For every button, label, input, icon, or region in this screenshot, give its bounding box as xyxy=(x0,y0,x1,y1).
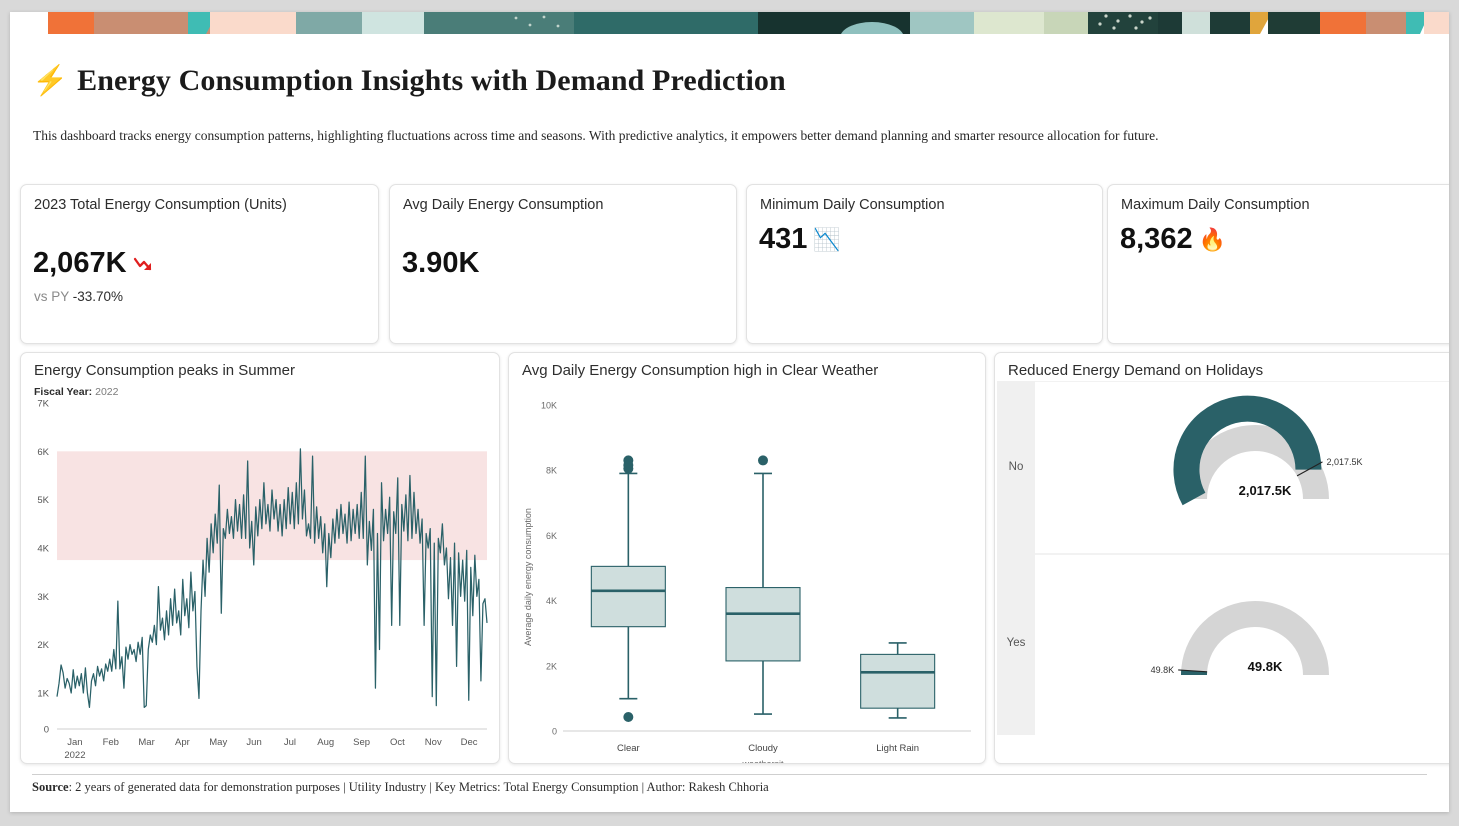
box-plot-group xyxy=(861,643,935,718)
lightning-bolt-icon: ⚡ xyxy=(32,67,68,96)
footer-source: Source: 2 years of generated data for de… xyxy=(32,780,769,795)
decorative-banner xyxy=(10,12,1449,34)
panel-holiday-gauges[interactable]: Reduced Energy Demand on Holidays No2,01… xyxy=(994,352,1449,764)
kpi-subtext: vs PY -33.70% xyxy=(34,289,123,304)
outlier-point xyxy=(623,712,633,722)
y-tick-label: 8K xyxy=(546,466,557,476)
category-label: Light Rain xyxy=(876,743,919,754)
kpi-title: Avg Daily Energy Consumption xyxy=(403,197,603,213)
y-tick-label: 6K xyxy=(37,447,49,458)
box-plot-chart: 02K4K6K8K10KAverage daily energy consump… xyxy=(509,383,985,764)
category-label: Clear xyxy=(617,743,640,754)
kpi-card-total-energy[interactable]: 2023 Total Energy Consumption (Units) 2,… xyxy=(20,184,379,344)
x-tick-label: Sep xyxy=(353,737,370,748)
gauge-tick-label: 2,017.5K xyxy=(1326,457,1362,467)
kpi-card-row: 2023 Total Energy Consumption (Units) 2,… xyxy=(20,184,1449,344)
panel-title: Energy Consumption peaks in Summer xyxy=(34,362,295,379)
gauge-tick-label: 49.8K xyxy=(1151,665,1175,675)
category-label: Cloudy xyxy=(748,743,778,754)
row-label-column xyxy=(997,381,1035,735)
dashboard-page: ⚡ Energy Consumption Insights with Deman… xyxy=(10,12,1449,812)
kpi-sub-value: -33.70% xyxy=(73,289,123,304)
x-tick-label: Jul xyxy=(284,737,296,748)
footer-source-label: Source xyxy=(32,780,69,794)
kpi-value-wrap: 3.90K xyxy=(402,247,479,280)
y-tick-label: 0 xyxy=(44,725,49,736)
x-tick-label: Mar xyxy=(138,737,154,748)
y-tick-label: 2K xyxy=(546,661,557,671)
x-tick-label: Jun xyxy=(246,737,261,748)
box-plot-group xyxy=(591,455,665,722)
x-tick-label: Oct xyxy=(390,737,405,748)
outlier-point xyxy=(758,455,768,465)
y-tick-label: 10K xyxy=(541,401,557,411)
x-tick-label: Aug xyxy=(317,737,334,748)
page-subtitle: This dashboard tracks energy consumption… xyxy=(33,128,1363,144)
y-tick-label: 1K xyxy=(37,689,49,700)
y-tick-label: 2K xyxy=(37,640,49,651)
box-plot-group xyxy=(726,455,800,714)
kpi-value-wrap: 2,067K xyxy=(33,247,155,280)
y-tick-label: 4K xyxy=(37,544,49,555)
gauge-row-label: No xyxy=(1009,461,1024,473)
gauge-yes: Yes49.8K49.8K xyxy=(1007,554,1449,675)
kpi-card-avg-daily[interactable]: Avg Daily Energy Consumption 3.90K xyxy=(389,184,737,344)
banner-pattern-icon xyxy=(10,12,1449,34)
kpi-card-minimum-daily[interactable]: Minimum Daily Consumption 431 📉 xyxy=(746,184,1103,344)
kpi-value: 3.90K xyxy=(402,247,479,280)
x-tick-label: Dec xyxy=(461,737,478,748)
panel-title: Avg Daily Energy Consumption high in Cle… xyxy=(522,362,878,379)
panel-energy-peaks[interactable]: Energy Consumption peaks in Summer Fisca… xyxy=(20,352,500,764)
x-tick-label: Jan xyxy=(67,737,82,748)
y-tick-label: 6K xyxy=(546,531,557,541)
x-axis-year-label: 2022 xyxy=(64,750,85,761)
kpi-sub-label: vs PY xyxy=(34,289,69,304)
footer-divider xyxy=(32,774,1427,775)
y-tick-label: 7K xyxy=(37,399,49,410)
gauge-no: No2,017.5K2,017.5K xyxy=(1009,409,1363,499)
page-title: Energy Consumption Insights with Demand … xyxy=(77,64,786,98)
gauge-chart-group: No2,017.5K2,017.5KYes49.8K49.8K xyxy=(995,381,1449,763)
y-tick-label: 5K xyxy=(37,495,49,506)
panel-weather-boxplot[interactable]: Avg Daily Energy Consumption high in Cle… xyxy=(508,352,986,764)
footer-source-text: : 2 years of generated data for demonstr… xyxy=(69,780,769,794)
kpi-title: Minimum Daily Consumption xyxy=(760,197,945,213)
kpi-value: 8,362 xyxy=(1120,223,1193,256)
chart-decreasing-icon: 📉 xyxy=(813,227,840,253)
y-tick-label: 0 xyxy=(552,727,557,737)
x-tick-label: May xyxy=(209,737,227,748)
y-axis-label: Average daily energy consumption xyxy=(523,508,533,646)
line-chart: 01K2K3K4K5K6K7KJanFebMarAprMayJunJulAugS… xyxy=(21,397,499,764)
x-tick-label: Feb xyxy=(103,737,119,748)
kpi-value: 431 xyxy=(759,223,807,256)
panel-title: Reduced Energy Demand on Holidays xyxy=(1008,362,1263,379)
kpi-title: 2023 Total Energy Consumption (Units) xyxy=(34,197,287,213)
gauge-row-label: Yes xyxy=(1007,637,1026,649)
kpi-value-wrap: 8,362 🔥 xyxy=(1120,223,1226,256)
kpi-value: 2,067K xyxy=(33,247,127,280)
gauge-value-label: 2,017.5K xyxy=(1239,483,1292,498)
page-title-row: ⚡ Energy Consumption Insights with Deman… xyxy=(32,64,786,98)
x-tick-label: Nov xyxy=(425,737,442,748)
kpi-card-maximum-daily[interactable]: Maximum Daily Consumption 8,362 🔥 xyxy=(1107,184,1449,344)
fire-icon: 🔥 xyxy=(1199,227,1226,253)
gauge-value-label: 49.8K xyxy=(1248,659,1283,674)
y-tick-label: 4K xyxy=(546,596,557,606)
y-tick-label: 3K xyxy=(37,592,49,603)
kpi-value-wrap: 431 📉 xyxy=(759,223,841,256)
x-axis-label: weathersit xyxy=(741,759,784,764)
kpi-title: Maximum Daily Consumption xyxy=(1121,197,1310,213)
trend-down-icon xyxy=(133,255,155,273)
x-tick-label: Apr xyxy=(175,737,190,748)
outlier-point xyxy=(623,464,633,474)
